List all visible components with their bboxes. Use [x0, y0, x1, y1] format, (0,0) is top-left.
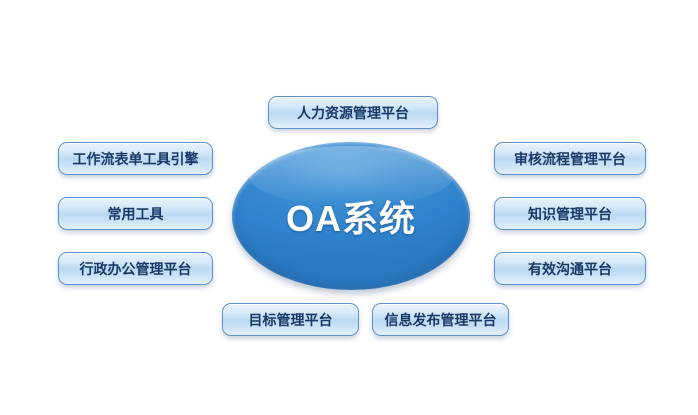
node-audit-process-platform[interactable]: 审核流程管理平台 [494, 142, 646, 175]
node-admin-office-platform-label: 行政办公管理平台 [80, 262, 192, 276]
node-communication-platform[interactable]: 有效沟通平台 [494, 252, 646, 285]
node-common-tools[interactable]: 常用工具 [58, 197, 213, 230]
node-knowledge-platform-label: 知识管理平台 [528, 207, 612, 221]
node-common-tools-label: 常用工具 [108, 207, 164, 221]
node-communication-platform-label: 有效沟通平台 [528, 262, 612, 276]
center-node-oa-system[interactable]: OA系统 [232, 142, 470, 290]
node-admin-office-platform[interactable]: 行政办公管理平台 [58, 252, 213, 285]
node-hr-platform-label: 人力资源管理平台 [297, 106, 409, 120]
node-hr-platform[interactable]: 人力资源管理平台 [268, 96, 438, 129]
node-info-publishing-platform[interactable]: 信息发布管理平台 [372, 303, 509, 336]
node-audit-process-platform-label: 审核流程管理平台 [514, 152, 626, 166]
center-node-label: OA系统 [286, 190, 416, 242]
node-knowledge-platform[interactable]: 知识管理平台 [494, 197, 646, 230]
oa-system-diagram: OA系统 人力资源管理平台 工作流表单工具引擎 常用工具 行政办公管理平台 审核… [0, 0, 698, 415]
node-goal-platform-label: 目标管理平台 [249, 313, 333, 327]
node-workflow-form-engine-label: 工作流表单工具引擎 [73, 152, 199, 166]
node-workflow-form-engine[interactable]: 工作流表单工具引擎 [58, 142, 213, 175]
node-info-publishing-platform-label: 信息发布管理平台 [385, 313, 497, 327]
node-goal-platform[interactable]: 目标管理平台 [222, 303, 359, 336]
